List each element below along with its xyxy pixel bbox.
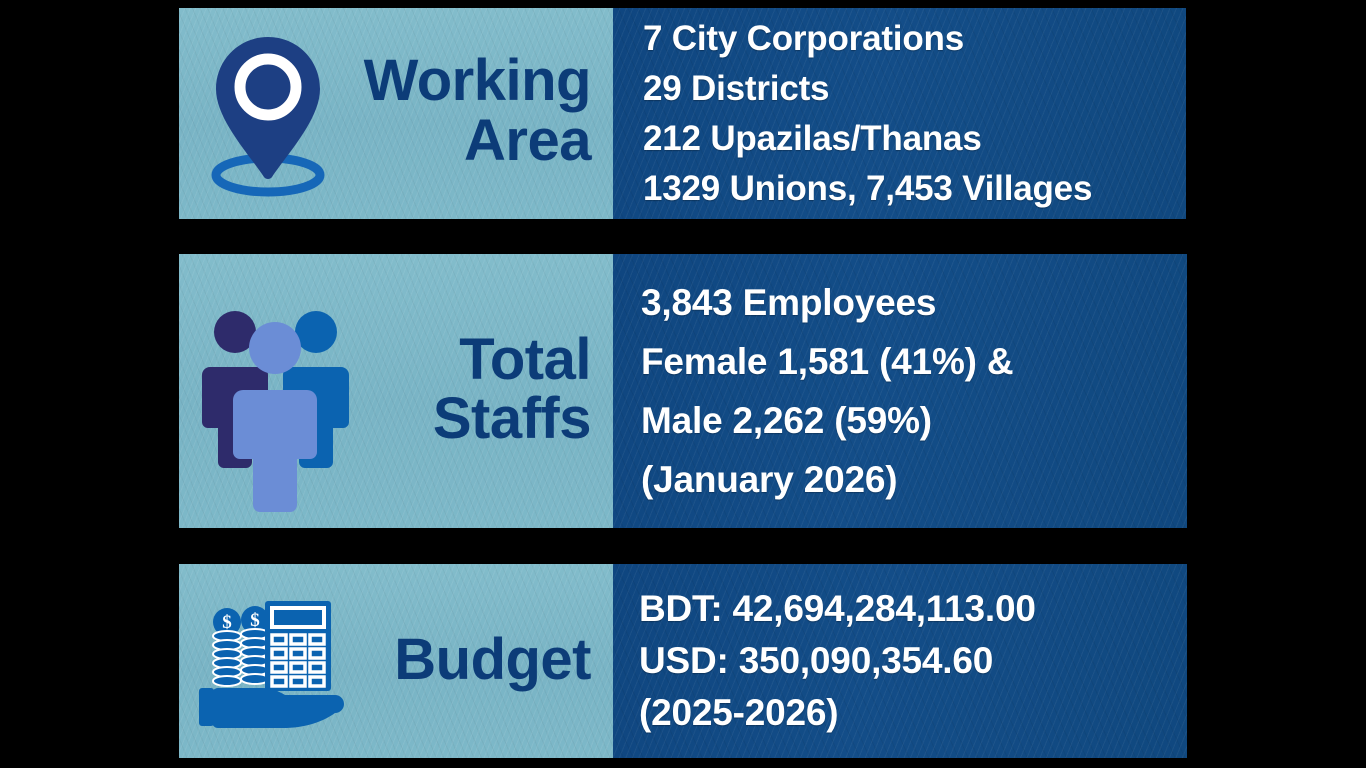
card-total-staffs-values-panel: 3,843 Employees Female 1,581 (41%) & Mal… (613, 254, 1187, 528)
location-pin-icon (193, 24, 343, 204)
card-working-area-values-panel: 7 City Corporations 29 Districts 212 Upa… (613, 8, 1186, 219)
card-total-staffs-title: Total Staffs (353, 330, 591, 452)
card-budget-title: Budget (343, 630, 591, 691)
working-area-value-line: 212 Upazilas/Thanas (643, 114, 1186, 164)
working-area-value-line: 7 City Corporations (643, 14, 1186, 64)
budget-value-line: BDT: 42,694,284,113.00 (639, 583, 1187, 635)
card-budget: $ (179, 564, 1187, 758)
card-working-area-title: Working Area (343, 51, 591, 175)
total-staffs-value-line: Female 1,581 (41%) & (641, 332, 1187, 391)
card-working-area: Working Area 7 City Corporations 29 Dist… (179, 8, 1186, 219)
working-area-value-line: 1329 Unions, 7,453 Villages (643, 164, 1186, 214)
budget-value-line: USD: 350,090,354.60 (639, 635, 1187, 687)
svg-text:$: $ (250, 610, 260, 631)
card-budget-values-panel: BDT: 42,694,284,113.00 USD: 350,090,354.… (613, 564, 1187, 758)
svg-text:$: $ (222, 612, 232, 633)
people-group-icon (193, 299, 353, 484)
card-total-staffs-icon-panel: Total Staffs (179, 254, 613, 528)
budget-value-line: (2025-2026) (639, 687, 1187, 739)
hand-money-calculator-icon: $ (193, 586, 343, 736)
card-total-staffs: Total Staffs 3,843 Employees Female 1,58… (179, 254, 1187, 528)
card-working-area-icon-panel: Working Area (179, 8, 613, 219)
total-staffs-value-line: 3,843 Employees (641, 273, 1187, 332)
total-staffs-value-line: (January 2026) (641, 450, 1187, 509)
infographic-root: Working Area 7 City Corporations 29 Dist… (0, 0, 1366, 768)
working-area-value-line: 29 Districts (643, 64, 1186, 114)
card-budget-icon-panel: $ (179, 564, 613, 758)
total-staffs-value-line: Male 2,262 (59%) (641, 391, 1187, 450)
